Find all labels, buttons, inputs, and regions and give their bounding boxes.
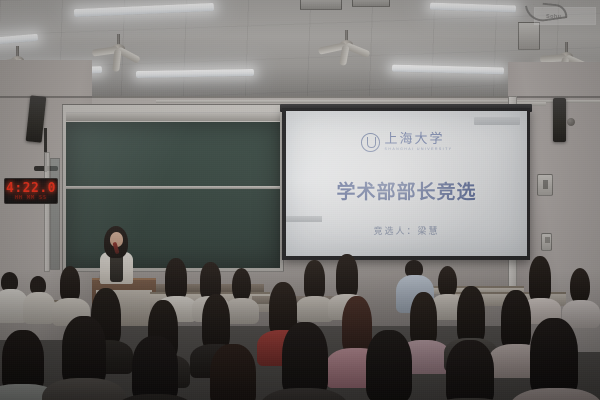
led-clock-time: 4:22.0 xyxy=(5,181,57,196)
audience-member xyxy=(56,266,86,318)
audience-head xyxy=(530,318,578,396)
audience-head xyxy=(202,294,230,350)
logo-chinese-name: 上海大学 xyxy=(385,133,453,146)
audience-body xyxy=(112,394,198,400)
blackboard-glare xyxy=(66,122,280,268)
watermark-text: Sohu xyxy=(546,14,561,20)
control-panel-slot xyxy=(543,180,548,189)
audience-body xyxy=(344,394,432,400)
audience-head xyxy=(446,340,494,400)
audience-member xyxy=(120,336,190,400)
university-logo: 上海大学 SHANGHAI UNIVERSITY xyxy=(286,133,527,152)
blackboard-top-rail xyxy=(66,112,280,121)
audience-member xyxy=(268,322,340,400)
wall-light-switch[interactable] xyxy=(541,233,552,251)
audience-body xyxy=(23,292,55,324)
audience-member xyxy=(564,268,598,320)
audience-member xyxy=(432,340,506,400)
audience-head xyxy=(165,258,187,300)
left-door-window xyxy=(50,158,60,270)
wall-control-panel[interactable] xyxy=(537,174,553,196)
audience-head xyxy=(282,322,328,396)
audience-head xyxy=(366,330,412,400)
slide-statusbar[interactable] xyxy=(286,216,322,222)
led-clock-sublabel: HH MM SS xyxy=(5,195,57,201)
slide-subtitle: 竞选人：梁慧 xyxy=(286,224,527,237)
logo-english-name: SHANGHAI UNIVERSITY xyxy=(385,148,453,152)
slide-title: 学术部部长竞选 xyxy=(286,177,527,204)
logo-text-block: 上海大学 SHANGHAI UNIVERSITY xyxy=(385,133,453,152)
audience-head xyxy=(457,286,485,344)
classroom-photo: 4:22.0 HH MM SS 上海大学 SHANGHAI UNIVERSITY… xyxy=(0,0,600,400)
wall-led-clock: 4:22.0 HH MM SS xyxy=(4,178,58,204)
audience-head xyxy=(62,316,106,386)
wall-speaker-right xyxy=(553,98,566,142)
audience-head xyxy=(570,268,590,304)
audience-member xyxy=(516,318,592,400)
audience-head xyxy=(336,254,358,298)
audience-member xyxy=(26,276,52,320)
light-switch-rocker xyxy=(545,237,550,243)
wall-sensor-dome xyxy=(567,118,575,126)
audience-body xyxy=(260,388,348,400)
audience-member xyxy=(352,330,424,400)
audience-head xyxy=(210,344,256,400)
audience-body xyxy=(42,378,126,400)
audience-member xyxy=(300,260,330,314)
projection-screen: 上海大学 SHANGHAI UNIVERSITY 学术部部长竞选 竞选人：梁慧 xyxy=(282,108,530,260)
audience-head xyxy=(2,330,44,392)
audience-member xyxy=(198,344,268,400)
presentation-slide: 上海大学 SHANGHAI UNIVERSITY 学术部部长竞选 竞选人：梁慧 xyxy=(286,111,527,256)
audience-head xyxy=(132,336,178,400)
audience-head xyxy=(60,266,80,302)
audience-body xyxy=(510,388,600,400)
audience-head xyxy=(304,260,325,300)
shanghai-university-emblem-icon xyxy=(361,133,380,152)
slide-toolbar[interactable] xyxy=(474,117,520,125)
audience-member xyxy=(52,316,118,400)
corner-watermark: Sohu xyxy=(524,3,596,29)
